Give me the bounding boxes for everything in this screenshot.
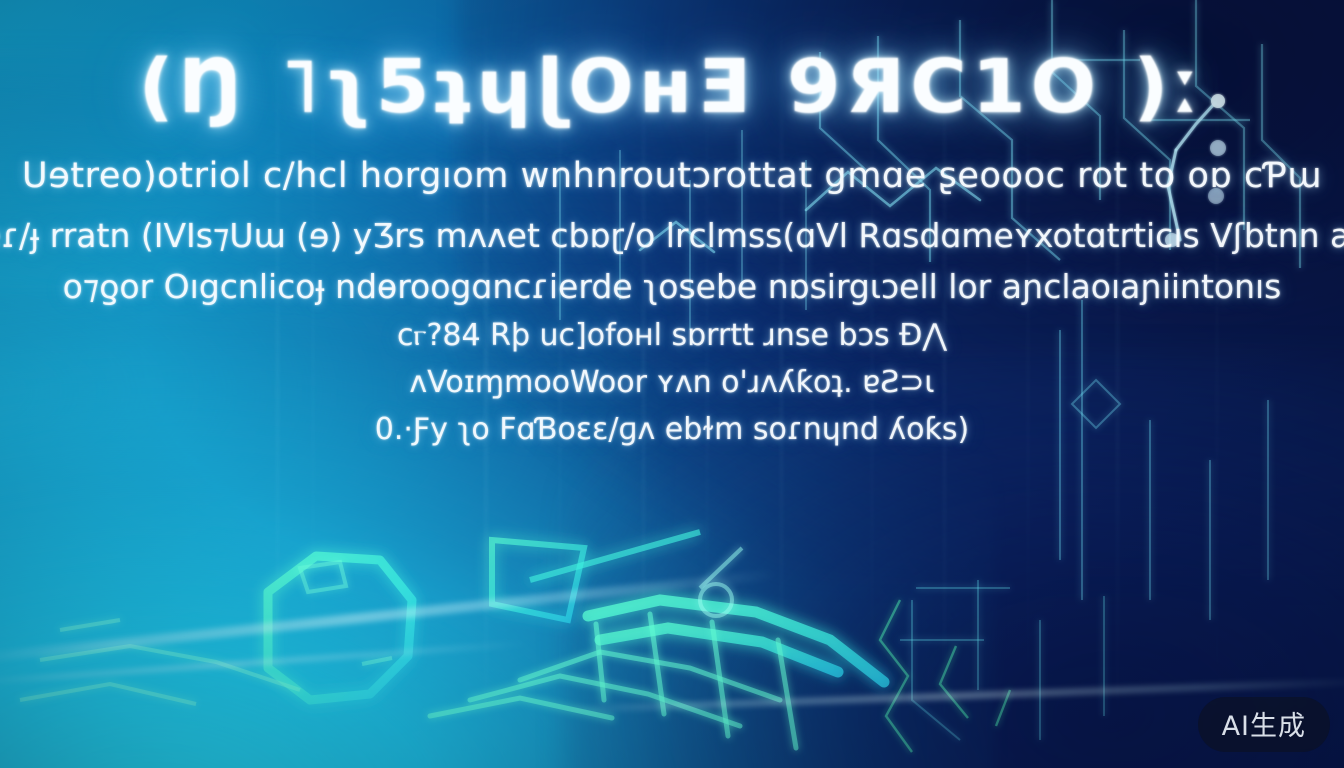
ai-generated-watermark: AI生成	[1198, 697, 1330, 752]
vignette-overlay	[0, 0, 1344, 768]
poster-canvas: (Ŋ ˥ʅ5ʇɥɭOʜƎ 9ЯC1O )ː Uɘtreo)otriol ᴄ/hᴄ…	[0, 0, 1344, 768]
